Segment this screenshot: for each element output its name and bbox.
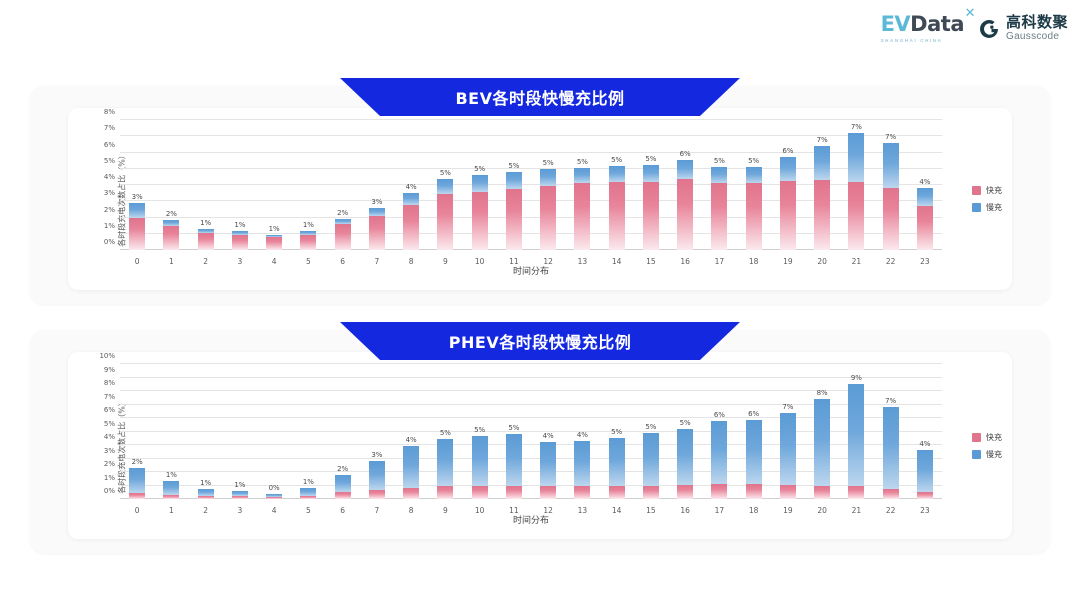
bev-bar-value-label: 3% [132,193,143,201]
phev-bar-stack[interactable] [506,434,522,499]
phev-bar-segment-slow[interactable] [472,436,488,486]
phev-bar-segment-slow[interactable] [540,442,556,487]
phev-y-tick: 2% [104,460,115,468]
bev-bar-column[interactable]: 5%15 [634,120,668,250]
phev-bar-segment-fast[interactable] [746,484,762,499]
bev-bar-segment-slow[interactable] [369,208,385,216]
bev-bar-value-label: 6% [782,147,793,155]
bev-bar-stack[interactable] [266,235,282,250]
phev-bar-value-label: 5% [440,429,451,437]
phev-bar-stack[interactable] [883,407,899,499]
bev-bar-value-label: 4% [406,183,417,191]
phev-bar-value-label: 9% [851,374,862,382]
phev-bar-column[interactable]: 5%11 [497,364,531,499]
phev-bar-segment-slow[interactable] [198,489,214,496]
bev-bar-segment-slow[interactable] [574,168,590,183]
bev-bar-column[interactable]: 6%19 [771,120,805,250]
phev-bar-segment-fast[interactable] [883,489,899,499]
phev-bar-segment-fast[interactable] [163,495,179,499]
phev-bar-segment-fast[interactable] [198,496,214,499]
bev-bar-value-label: 1% [200,219,211,227]
bev-bar-column[interactable]: 5%14 [600,120,634,250]
phev-bar-column[interactable]: 5%14 [600,364,634,499]
bev-bar-segment-fast[interactable] [917,206,933,250]
bev-bar-segment-fast[interactable] [609,182,625,250]
bev-bar-column[interactable]: 4%8 [394,120,428,250]
bev-bar-value-label: 7% [817,136,828,144]
phev-bar-segment-slow[interactable] [609,438,625,486]
phev-bar-value-label: 8% [817,389,828,397]
phev-chart-card: 各时段充电次数占比（%） 0%1%2%3%4%5%6%7%8%9%10% 2%0… [68,352,1012,539]
phev-bar-segment-fast[interactable] [403,488,419,499]
phev-bar-segment-slow[interactable] [883,407,899,489]
phev-bar-stack[interactable] [746,420,762,499]
gausscode-logo-text: 高科数聚 Gausscode [1006,15,1068,42]
slide-page: EVData✕ SHANGHAI CHINA 高科数聚 Gausscode 各时… [0,0,1080,608]
phev-bar-column[interactable]: 5%15 [634,364,668,499]
bev-bar-value-label: 1% [234,221,245,229]
bev-bar-value-label: 5% [440,169,451,177]
bev-y-tick: 7% [104,124,115,132]
phev-bar-segment-slow[interactable] [163,481,179,494]
bev-bar-column[interactable]: 3%0 [120,120,154,250]
phev-bar-segment-slow[interactable] [129,468,145,493]
phev-x-axis-label: 时间分布 [120,513,942,526]
bev-bar-value-label: 4% [919,178,930,186]
bev-bar-segment-slow[interactable] [814,146,830,180]
phev-bar-segment-slow[interactable] [437,439,453,486]
bev-bar-column[interactable]: 5%9 [428,120,462,250]
slow-charge-swatch-icon [972,203,981,212]
bev-chart-panel: 各时段充电次数占比（%） 0%1%2%3%4%5%6%7%8% 3%02%11%… [30,86,1050,304]
phev-bar-stack[interactable] [848,384,864,499]
phev-bar-stack[interactable] [677,429,693,499]
bev-bar-segment-slow[interactable] [540,169,556,186]
bev-bar-column[interactable]: 1%2 [189,120,223,250]
phev-bar-stack[interactable] [129,468,145,499]
bev-bar-column[interactable]: 5%10 [463,120,497,250]
phev-y-tick: 7% [104,393,115,401]
bev-bar-value-label: 5% [714,157,725,165]
bev-bar-segment-fast[interactable] [369,216,385,250]
phev-bar-column[interactable]: 1%3 [223,364,257,499]
bev-bars: 3%02%11%21%31%41%52%63%74%85%95%105%115%… [120,120,942,250]
phev-bar-value-label: 5% [508,424,519,432]
phev-y-tick: 4% [104,433,115,441]
bev-bar-value-label: 3% [371,198,382,206]
bev-bar-stack[interactable] [917,188,933,250]
evdata-logo-wordmark: EVData✕ [881,14,964,35]
phev-bar-column[interactable]: 7%19 [771,364,805,499]
bev-bar-segment-slow[interactable] [506,172,522,189]
slow-charge-swatch-icon [972,450,981,459]
phev-bar-value-label: 5% [645,423,656,431]
phev-bar-value-label: 6% [748,410,759,418]
bev-bar-stack[interactable] [848,133,864,250]
phev-bar-column[interactable]: 7%22 [874,364,908,499]
phev-bar-column[interactable]: 5%9 [428,364,462,499]
bev-bar-segment-fast[interactable] [403,205,419,250]
phev-bar-stack[interactable] [403,446,419,499]
bev-bar-value-label: 2% [166,210,177,218]
bev-bar-segment-slow[interactable] [883,143,899,189]
phev-bar-segment-fast[interactable] [232,496,248,499]
phev-bar-segment-slow[interactable] [300,488,316,496]
gausscode-logo-cn: 高科数聚 [1006,15,1068,30]
bev-bar-segment-fast[interactable] [437,194,453,250]
phev-legend: 快充 慢充 [972,432,1002,460]
phev-bar-stack[interactable] [609,438,625,499]
phev-bar-stack[interactable] [643,433,659,499]
gausscode-logo: 高科数聚 Gausscode [978,15,1068,42]
bev-bar-column[interactable]: 1%4 [257,120,291,250]
phev-y-tick: 1% [104,474,115,482]
phev-bar-stack[interactable] [163,481,179,499]
evdata-logo-subtitle: SHANGHAI CHINA [881,38,943,43]
bev-title-text: BEV各时段快慢充比例 [455,85,624,109]
bev-bar-column[interactable]: 5%11 [497,120,531,250]
bev-bar-column[interactable]: 5%13 [565,120,599,250]
bev-bar-segment-fast[interactable] [472,192,488,251]
bev-bar-stack[interactable] [677,160,693,250]
phev-bar-column[interactable]: 1%5 [291,364,325,499]
bev-bar-stack[interactable] [163,220,179,250]
phev-bar-stack[interactable] [300,488,316,499]
phev-title-text: PHEV各时段快慢充比例 [449,329,631,353]
phev-bar-segment-slow[interactable] [917,450,933,492]
bev-bar-value-label: 1% [303,221,314,229]
phev-bar-column[interactable]: 3%7 [360,364,394,499]
bev-bar-stack[interactable] [232,231,248,250]
phev-bar-value-label: 1% [234,481,245,489]
phev-y-tick: 9% [104,366,115,374]
phev-bar-column[interactable]: 5%16 [668,364,702,499]
header-logos: EVData✕ SHANGHAI CHINA 高科数聚 Gausscode [881,14,1068,43]
bev-y-tick: 2% [104,206,115,214]
bev-bar-column[interactable]: 3%7 [360,120,394,250]
bev-bar-value-label: 5% [748,157,759,165]
phev-bar-stack[interactable] [780,413,796,499]
phev-bar-column[interactable]: 9%21 [839,364,873,499]
bev-bar-segment-fast[interactable] [746,183,762,250]
phev-bar-stack[interactable] [232,491,248,499]
bev-bar-stack[interactable] [403,193,419,250]
fast-charge-swatch-icon [972,186,981,195]
phev-bar-value-label: 0% [269,484,280,492]
bev-y-tick: 8% [104,108,115,116]
evdata-logo: EVData✕ SHANGHAI CHINA [881,14,964,43]
bev-bar-value-label: 5% [611,156,622,164]
phev-bar-segment-fast[interactable] [848,486,864,499]
phev-y-tick: 6% [104,406,115,414]
phev-bar-segment-slow[interactable] [369,461,385,490]
phev-bar-segment-slow[interactable] [403,446,419,488]
bev-bar-column[interactable]: 7%21 [839,120,873,250]
phev-bar-column[interactable]: 1%2 [189,364,223,499]
phev-bar-column[interactable]: 1%1 [154,364,188,499]
evdata-x-icon: ✕ [965,7,975,20]
bev-bar-segment-slow[interactable] [472,175,488,191]
phev-bar-value-label: 1% [303,478,314,486]
phev-bar-segment-slow[interactable] [780,413,796,485]
phev-bar-segment-fast[interactable] [711,484,727,499]
bev-bar-stack[interactable] [129,203,145,250]
phev-bar-column[interactable]: 2%6 [326,364,360,499]
phev-bar-segment-fast[interactable] [472,486,488,499]
bev-bar-column[interactable]: 2%6 [326,120,360,250]
phev-legend-item-slow: 慢充 [972,449,1002,460]
phev-y-tick: 3% [104,447,115,455]
bev-bar-value-label: 5% [543,159,554,167]
bev-bar-stack[interactable] [780,157,796,250]
bev-bar-segment-fast[interactable] [232,235,248,250]
phev-title-banner: PHEV各时段快慢充比例 [340,322,740,360]
phev-bar-value-label: 4% [919,440,930,448]
phev-bar-column[interactable]: 6%17 [702,364,736,499]
phev-bar-segment-fast[interactable] [677,485,693,499]
bev-bar-segment-slow[interactable] [780,157,796,181]
bev-bar-stack[interactable] [506,172,522,250]
bev-bar-segment-fast[interactable] [335,224,351,250]
bev-bar-segment-fast[interactable] [574,183,590,250]
phev-bar-column[interactable]: 4%23 [908,364,942,499]
bev-chart-card: 各时段充电次数占比（%） 0%1%2%3%4%5%6%7%8% 3%02%11%… [68,108,1012,290]
bev-bar-segment-fast[interactable] [643,182,659,250]
bev-bar-column[interactable]: 4%23 [908,120,942,250]
phev-bar-stack[interactable] [472,436,488,499]
phev-bar-segment-fast[interactable] [574,486,590,499]
bev-bar-segment-fast[interactable] [848,182,864,250]
phev-bar-column[interactable]: 6%18 [737,364,771,499]
phev-bar-stack[interactable] [369,461,385,499]
bev-bar-stack[interactable] [711,167,727,250]
bev-legend: 快充 慢充 [972,185,1002,213]
phev-bar-value-label: 4% [577,431,588,439]
bev-bar-stack[interactable] [369,208,385,250]
bev-bar-segment-fast[interactable] [198,233,214,250]
bev-bar-stack[interactable] [574,168,590,250]
phev-bar-segment-slow[interactable] [643,433,659,486]
bev-y-tick: 0% [104,238,115,246]
bev-bar-value-label: 7% [885,133,896,141]
bev-legend-label-fast: 快充 [986,185,1002,196]
phev-bar-segment-slow[interactable] [814,399,830,485]
phev-bar-segment-fast[interactable] [643,486,659,499]
phev-bar-column[interactable]: 4%13 [565,364,599,499]
phev-bar-segment-slow[interactable] [506,434,522,486]
phev-bar-value-label: 4% [543,432,554,440]
bev-bar-stack[interactable] [472,175,488,250]
phev-bar-value-label: 2% [132,458,143,466]
phev-bar-segment-fast[interactable] [300,496,316,499]
phev-bars: 2%01%11%21%30%41%52%63%74%85%95%105%114%… [120,364,942,499]
phev-bar-segment-fast[interactable] [540,486,556,499]
bev-bar-segment-fast[interactable] [506,189,522,250]
phev-bar-segment-slow[interactable] [711,421,727,484]
phev-bar-segment-fast[interactable] [506,486,522,499]
phev-bar-value-label: 2% [337,465,348,473]
bev-bar-value-label: 5% [508,162,519,170]
phev-bar-stack[interactable] [540,442,556,499]
bev-bar-column[interactable]: 5%12 [531,120,565,250]
phev-bar-stack[interactable] [198,489,214,499]
bev-title-banner: BEV各时段快慢充比例 [340,78,740,116]
bev-bar-segment-fast[interactable] [883,188,899,250]
phev-bar-stack[interactable] [814,399,830,499]
phev-bar-stack[interactable] [917,450,933,499]
bev-bar-segment-slow[interactable] [848,133,864,182]
phev-bar-stack[interactable] [574,441,590,499]
phev-bar-value-label: 5% [611,428,622,436]
phev-legend-label-slow: 慢充 [986,449,1002,460]
bev-bar-stack[interactable] [198,229,214,250]
phev-legend-label-fast: 快充 [986,432,1002,443]
bev-bar-value-label: 6% [680,150,691,158]
phev-bar-segment-slow[interactable] [746,420,762,484]
phev-bar-column[interactable]: 4%8 [394,364,428,499]
bev-bar-stack[interactable] [746,167,762,250]
phev-bar-segment-slow[interactable] [848,384,864,487]
bev-y-tick: 1% [104,222,115,230]
phev-y-tick: 8% [104,379,115,387]
phev-bar-value-label: 1% [166,471,177,479]
phev-bar-column[interactable]: 5%10 [463,364,497,499]
phev-bar-value-label: 5% [680,419,691,427]
bev-y-tick: 5% [104,157,115,165]
bev-bar-segment-fast[interactable] [677,179,693,250]
phev-chart: 各时段充电次数占比（%） 0%1%2%3%4%5%6%7%8%9%10% 2%0… [68,352,1012,539]
phev-bar-segment-fast[interactable] [266,497,282,499]
bev-bar-stack[interactable] [540,169,556,250]
phev-y-tick: 10% [99,352,115,360]
bev-bar-segment-fast[interactable] [711,183,727,250]
fast-charge-swatch-icon [972,433,981,442]
phev-bar-value-label: 6% [714,411,725,419]
bev-y-tick: 4% [104,173,115,181]
bev-bar-stack[interactable] [609,166,625,251]
bev-bar-column[interactable]: 5%17 [702,120,736,250]
phev-bar-segment-fast[interactable] [780,485,796,499]
bev-legend-label-slow: 慢充 [986,202,1002,213]
bev-legend-item-fast: 快充 [972,185,1002,196]
bev-bar-stack[interactable] [814,146,830,250]
bev-bar-stack[interactable] [300,231,316,250]
bev-y-tick: 3% [104,189,115,197]
bev-bar-segment-slow[interactable] [643,165,659,182]
bev-bar-value-label: 1% [269,225,280,233]
bev-bar-stack[interactable] [437,179,453,250]
evdata-logo-ev: EV [881,12,911,36]
bev-bar-segment-slow[interactable] [129,203,145,218]
bev-chart: 各时段充电次数占比（%） 0%1%2%3%4%5%6%7%8% 3%02%11%… [68,108,1012,290]
phev-bar-value-label: 7% [885,397,896,405]
bev-bar-segment-fast[interactable] [266,237,282,250]
gausscode-logo-en: Gausscode [1006,32,1068,42]
phev-bar-segment-fast[interactable] [437,486,453,499]
bev-bar-value-label: 5% [645,155,656,163]
phev-bar-segment-slow[interactable] [574,441,590,486]
phev-y-tick: 0% [104,487,115,495]
phev-bar-stack[interactable] [335,475,351,499]
phev-legend-item-fast: 快充 [972,432,1002,443]
bev-bar-segment-fast[interactable] [780,181,796,250]
phev-bar-value-label: 7% [782,403,793,411]
phev-bar-column[interactable]: 8%20 [805,364,839,499]
bev-bar-value-label: 7% [851,123,862,131]
bev-bar-column[interactable]: 7%20 [805,120,839,250]
phev-bar-column[interactable]: 0%4 [257,364,291,499]
phev-plot-area: 0%1%2%3%4%5%6%7%8%9%10% 2%01%11%21%30%41… [120,364,942,499]
phev-chart-panel: 各时段充电次数占比（%） 0%1%2%3%4%5%6%7%8%9%10% 2%0… [30,330,1050,553]
phev-bar-segment-fast[interactable] [335,492,351,499]
phev-bar-stack[interactable] [711,421,727,499]
phev-bar-segment-fast[interactable] [609,486,625,499]
bev-bar-segment-slow[interactable] [711,167,727,183]
phev-bar-segment-fast[interactable] [369,490,385,499]
phev-bar-value-label: 1% [200,479,211,487]
bev-bar-segment-slow[interactable] [609,166,625,182]
bev-y-tick: 6% [104,141,115,149]
phev-bar-stack[interactable] [266,494,282,499]
phev-bar-segment-fast[interactable] [814,486,830,499]
bev-bar-segment-slow[interactable] [677,160,693,180]
phev-bar-value-label: 3% [371,451,382,459]
bev-bar-value-label: 5% [577,158,588,166]
bev-bar-column[interactable]: 1%3 [223,120,257,250]
bev-bar-column[interactable]: 1%5 [291,120,325,250]
gausscode-g-icon [978,18,1000,40]
bev-bar-segment-slow[interactable] [917,188,933,206]
phev-bar-value-label: 5% [474,426,485,434]
bev-bar-segment-fast[interactable] [540,186,556,250]
phev-bar-column[interactable]: 2%0 [120,364,154,499]
bev-bar-stack[interactable] [643,165,659,250]
bev-bar-segment-fast[interactable] [300,235,316,250]
evdata-logo-data: Data [910,12,964,36]
bev-bar-segment-slow[interactable] [437,179,453,194]
phev-bar-segment-fast[interactable] [129,493,145,499]
phev-bar-segment-fast[interactable] [917,492,933,499]
bev-bar-column[interactable]: 6%16 [668,120,702,250]
bev-bar-column[interactable]: 7%22 [874,120,908,250]
bev-bar-segment-slow[interactable] [746,167,762,183]
bev-bar-segment-fast[interactable] [163,226,179,250]
bev-bar-stack[interactable] [335,219,351,250]
phev-y-tick: 5% [104,420,115,428]
phev-bar-value-label: 4% [406,436,417,444]
phev-bar-stack[interactable] [437,439,453,499]
bev-bar-segment-fast[interactable] [814,180,830,250]
bev-bar-value-label: 5% [474,165,485,173]
bev-bar-segment-fast[interactable] [129,218,145,250]
bev-bar-column[interactable]: 5%18 [737,120,771,250]
bev-x-axis-label: 时间分布 [120,264,942,277]
phev-bar-segment-slow[interactable] [677,429,693,485]
bev-legend-item-slow: 慢充 [972,202,1002,213]
bev-bar-column[interactable]: 2%1 [154,120,188,250]
phev-bar-segment-slow[interactable] [335,475,351,492]
bev-bar-stack[interactable] [883,143,899,250]
phev-bar-column[interactable]: 4%12 [531,364,565,499]
bev-bar-segment-slow[interactable] [403,193,419,205]
bev-bar-value-label: 2% [337,209,348,217]
bev-plot-area: 0%1%2%3%4%5%6%7%8% 3%02%11%21%31%41%52%6… [120,120,942,250]
